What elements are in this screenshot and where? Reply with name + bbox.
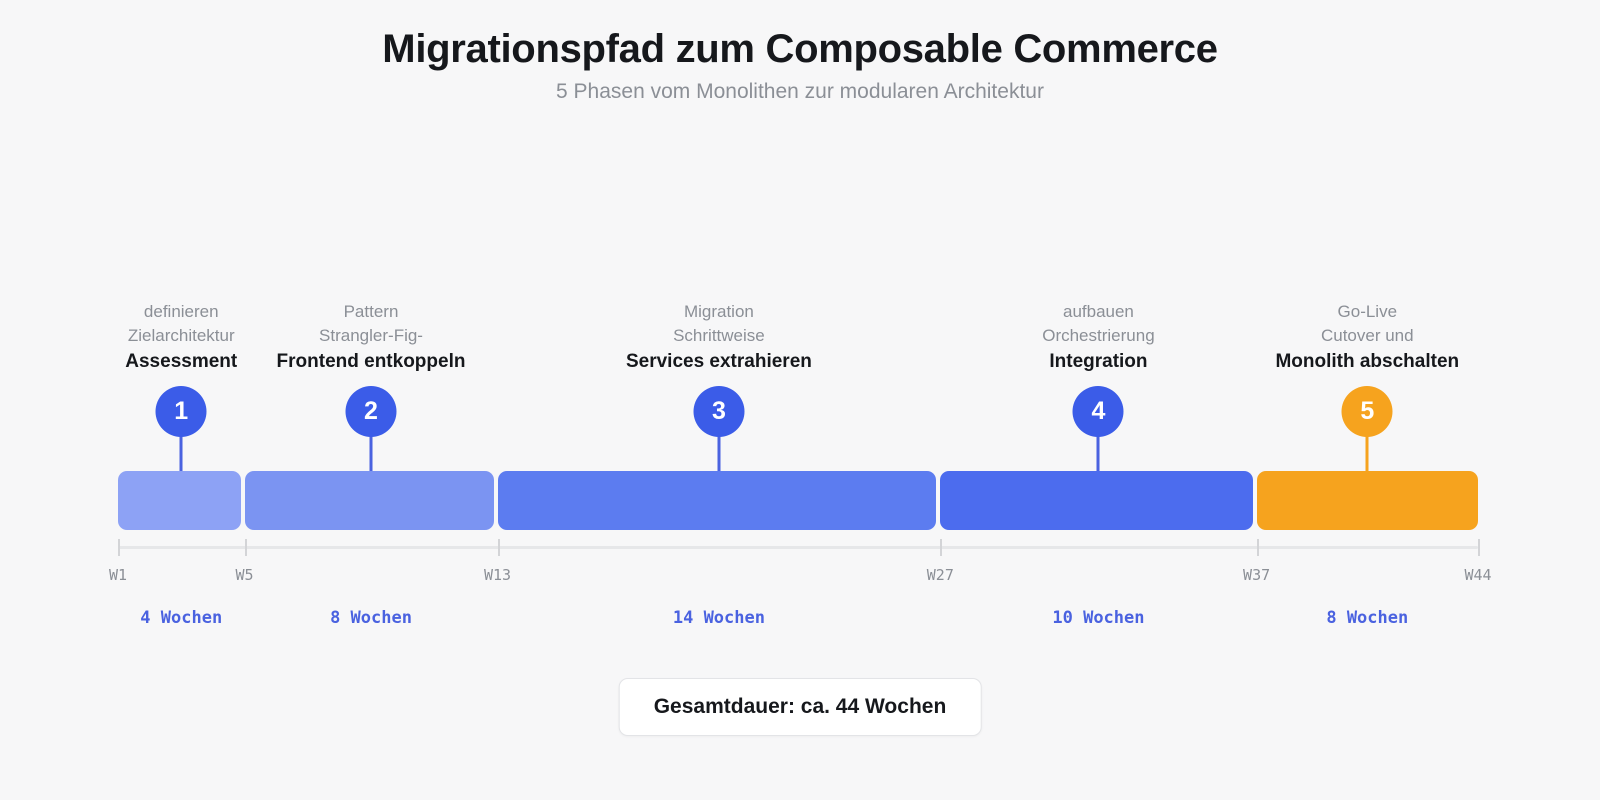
timeline-diagram: Migrationspfad zum Composable Commerce 5… — [0, 0, 1600, 800]
phase-description-line: Strangler-Fig- — [245, 324, 498, 348]
axis-tick — [118, 539, 120, 556]
phase-connector-line — [717, 436, 720, 472]
phase-name: Frontend entkoppeln — [245, 350, 498, 374]
axis-tick — [1257, 539, 1259, 556]
phase-description-line: Schrittweise — [498, 324, 941, 348]
phase-label-stack: PatternStrangler-Fig-Frontend entkoppeln — [245, 300, 498, 374]
phase-connector-line — [1097, 436, 1100, 472]
timeline-axis-line — [118, 546, 1478, 549]
phase-description-line: Zielarchitektur — [118, 324, 245, 348]
phase-group[interactable]: PatternStrangler-Fig-Frontend entkoppeln… — [245, 0, 498, 800]
phase-name: Assessment — [118, 350, 245, 374]
phase-label-stack: MigrationSchrittweiseServices extrahiere… — [498, 300, 941, 374]
phase-duration-bar[interactable] — [118, 471, 241, 530]
phase-connector-line — [180, 436, 183, 472]
phase-name: Monolith abschalten — [1257, 350, 1478, 374]
axis-tick — [940, 539, 942, 556]
phase-duration-bar[interactable] — [940, 471, 1252, 530]
phase-description-line: Go-Live — [1257, 300, 1478, 324]
axis-week-label: W5 — [235, 566, 253, 584]
phase-duration-bar[interactable] — [245, 471, 494, 530]
phase-group[interactable]: definierenZielarchitekturAssessment14 Wo… — [118, 0, 245, 800]
phase-duration-bar[interactable] — [498, 471, 937, 530]
axis-week-label: W37 — [1243, 566, 1270, 584]
phase-description-line: Orchestrierung — [940, 324, 1256, 348]
phase-group[interactable]: aufbauenOrchestrierungIntegration410 Woc… — [940, 0, 1256, 800]
axis-week-label: W13 — [484, 566, 511, 584]
phase-duration-label: 10 Wochen — [940, 608, 1256, 628]
phase-duration-label: 14 Wochen — [498, 608, 941, 628]
phase-number-badge[interactable]: 2 — [346, 386, 397, 437]
phase-duration-label: 8 Wochen — [1257, 608, 1478, 628]
axis-week-label: W44 — [1464, 566, 1491, 584]
phase-connector-line — [370, 436, 373, 472]
phase-duration-label: 8 Wochen — [245, 608, 498, 628]
phase-number-badge[interactable]: 3 — [693, 386, 744, 437]
phase-description-line: Migration — [498, 300, 941, 324]
total-duration-badge: Gesamtdauer: ca. 44 Wochen — [619, 678, 982, 736]
axis-tick — [498, 539, 500, 556]
phase-label-stack: definierenZielarchitekturAssessment — [118, 300, 245, 374]
phase-connector-line — [1366, 436, 1369, 472]
phase-number-badge[interactable]: 5 — [1342, 386, 1393, 437]
phase-duration-label: 4 Wochen — [118, 608, 245, 628]
phase-label-stack: aufbauenOrchestrierungIntegration — [940, 300, 1256, 374]
phase-description-line: Cutover und — [1257, 324, 1478, 348]
axis-tick — [245, 539, 247, 556]
axis-week-label: W27 — [927, 566, 954, 584]
phase-name: Integration — [940, 350, 1256, 374]
axis-tick — [1478, 539, 1480, 556]
phase-description-line: aufbauen — [940, 300, 1256, 324]
phase-name: Services extrahieren — [498, 350, 941, 374]
phase-description-line: Pattern — [245, 300, 498, 324]
phase-label-stack: Go-LiveCutover undMonolith abschalten — [1257, 300, 1478, 374]
phase-number-badge[interactable]: 4 — [1073, 386, 1124, 437]
phase-group[interactable]: Go-LiveCutover undMonolith abschalten58 … — [1257, 0, 1478, 800]
phase-description-line: definieren — [118, 300, 245, 324]
phase-duration-bar[interactable] — [1257, 471, 1478, 530]
axis-week-label: W1 — [109, 566, 127, 584]
phase-number-badge[interactable]: 1 — [156, 386, 207, 437]
